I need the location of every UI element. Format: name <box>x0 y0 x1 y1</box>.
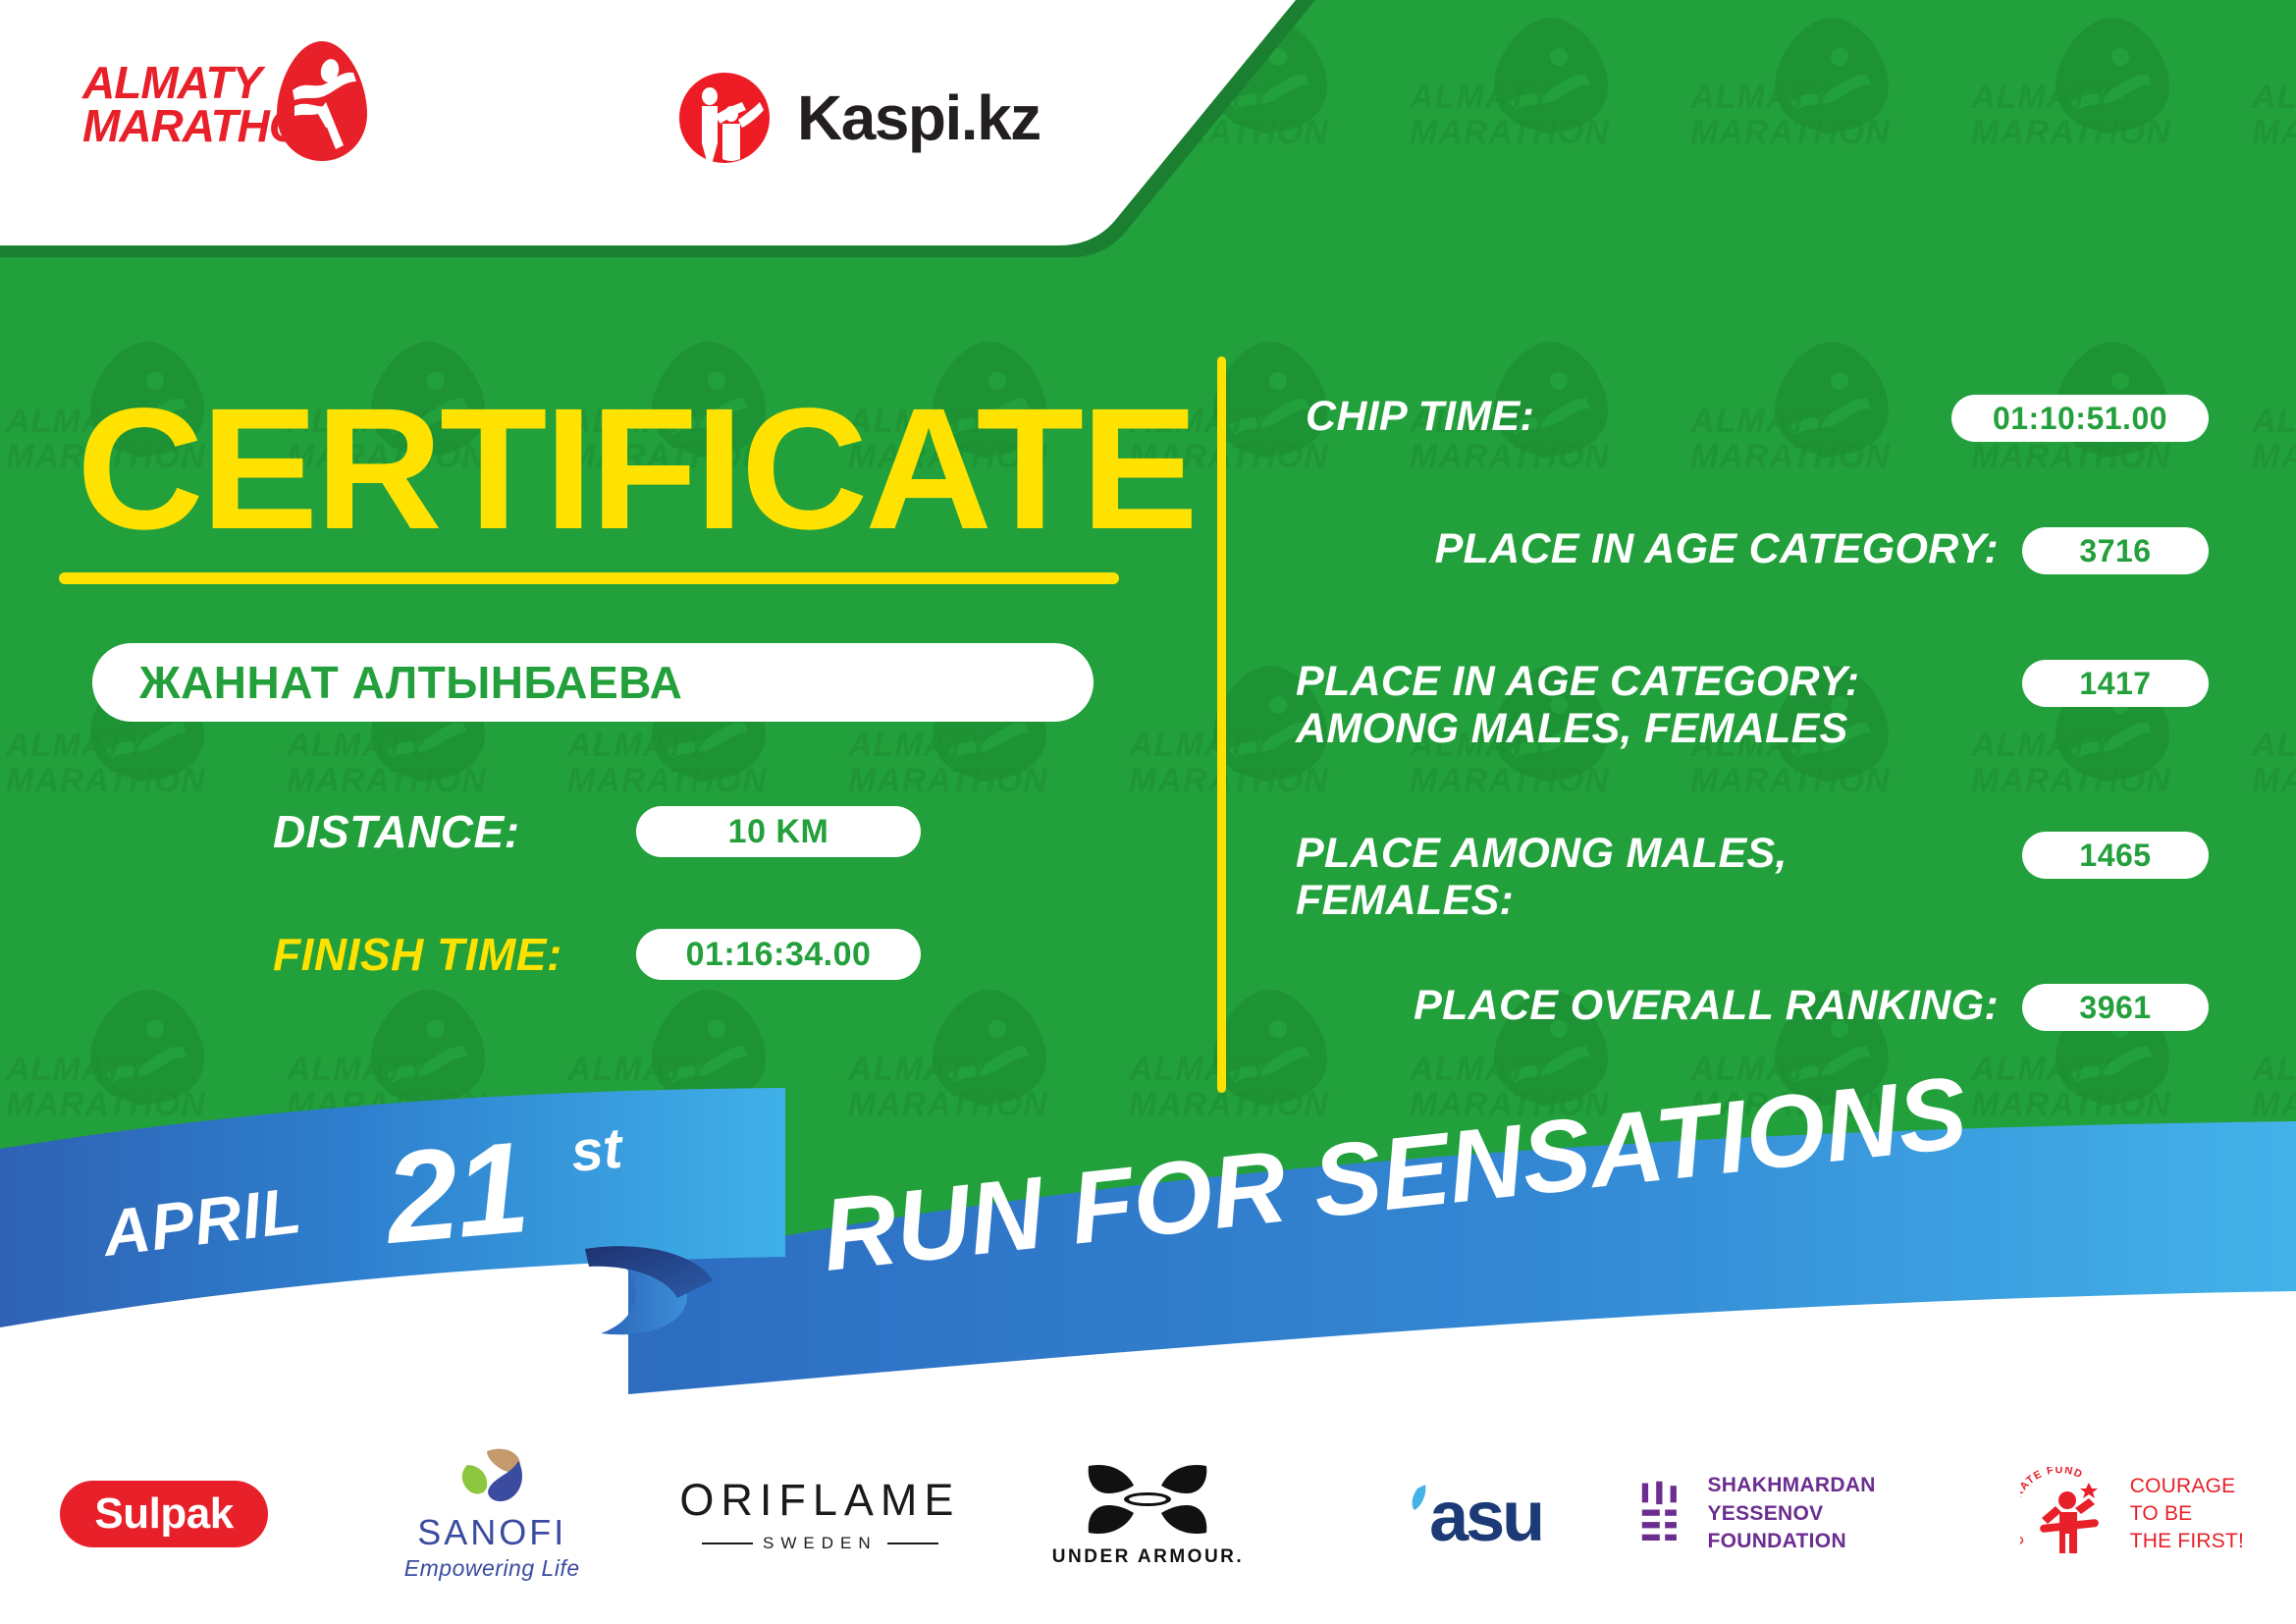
almaty-marathon-line1: ALMATY <box>82 61 289 104</box>
oriflame-subline: SWEDEN <box>702 1534 938 1553</box>
participant-name-field: ЖАННАТ АЛТЫНБАЕВА <box>92 643 1094 722</box>
sulpak-logo: Sulpak <box>60 1481 268 1547</box>
yessenov-mark-icon <box>1640 1478 1686 1550</box>
sponsor-yessenov-foundation: SHAKHMARDAN YESSENOV FOUNDATION <box>1640 1431 1968 1597</box>
result-value: 1417 <box>2079 666 2151 702</box>
kaspi-logo: Kaspi.kz <box>677 71 1041 165</box>
courage-line3: THE FIRST! <box>2130 1528 2244 1555</box>
result-label: PLACE OVERALL RANKING: <box>1296 982 2022 1029</box>
result-row-chip-time: CHIP TIME: 01:10:51.00 <box>1296 393 2209 442</box>
asu-logo: asu <box>1410 1481 1542 1547</box>
under-armour-logo: UNDER ARMOUR. <box>1052 1460 1244 1568</box>
sulpak-wordmark: Sulpak <box>94 1489 233 1539</box>
result-row-place-age-category: PLACE IN AGE CATEGORY: 3716 <box>1296 525 2209 574</box>
yessenov-line1: SHAKHMARDAN YESSENOV <box>1707 1472 1967 1528</box>
yessenov-wordmark: SHAKHMARDAN YESSENOV FOUNDATION <box>1707 1472 1967 1555</box>
distance-row: DISTANCE: 10 KM <box>273 805 921 858</box>
courage-mark-icon: CORPORATE FUND <box>2020 1467 2116 1561</box>
ribbon-day-suffix: st <box>568 1115 624 1185</box>
yessenov-line2: FOUNDATION <box>1707 1528 1967 1555</box>
oriflame-logo: ORIFLAME SWEDEN <box>679 1475 960 1553</box>
sanofi-tagline: Empowering Life <box>404 1555 580 1582</box>
result-label: PLACE AMONG MALES, FEMALES: <box>1296 830 2022 924</box>
ribbon-day: 21 <box>380 1112 532 1272</box>
finish-time-label: FINISH TIME: <box>273 928 636 981</box>
courage-line1: COURAGE <box>2130 1473 2244 1500</box>
oriflame-country: SWEDEN <box>763 1534 878 1553</box>
result-value: 3716 <box>2079 533 2151 569</box>
result-value-pill: 1417 <box>2022 660 2209 707</box>
almaty-marathon-wordmark: ALMATY MARATHON <box>82 61 289 147</box>
asu-droplet-icon <box>1408 1481 1429 1514</box>
page-title: CERTIFICATE <box>77 383 1196 556</box>
result-row-place-among-gender: PLACE AMONG MALES, FEMALES: 1465 <box>1296 830 2209 924</box>
asu-wordmark: asu <box>1429 1488 1542 1547</box>
result-label: PLACE IN AGE CATEGORY: <box>1296 525 2022 572</box>
under-armour-mark-icon <box>1081 1460 1214 1539</box>
result-row-place-overall: PLACE OVERALL RANKING: 3961 <box>1296 982 2209 1031</box>
result-label: PLACE IN AGE CATEGORY: AMONG MALES, FEMA… <box>1296 658 2022 752</box>
oriflame-wordmark: ORIFLAME <box>679 1475 960 1526</box>
result-value: 1465 <box>2079 838 2151 874</box>
result-label: CHIP TIME: <box>1296 393 1951 440</box>
almaty-marathon-runner-icon <box>275 37 369 165</box>
under-armour-wordmark: UNDER ARMOUR. <box>1052 1546 1244 1568</box>
yessenov-logo: SHAKHMARDAN YESSENOV FOUNDATION <box>1640 1472 1968 1555</box>
result-value: 01:10:51.00 <box>1993 401 2167 437</box>
sponsor-asu: asu <box>1312 1431 1640 1597</box>
sponsor-courage-to-be-first: CORPORATE FUND COURAGE TO BE THE FIRST! <box>1968 1431 2296 1597</box>
title-divider <box>59 572 1119 584</box>
finish-time-value-pill: 01:16:34.00 <box>636 929 921 980</box>
finish-time-value: 01:16:34.00 <box>686 936 872 974</box>
result-value-pill: 1465 <box>2022 832 2209 879</box>
courage-line2: TO BE <box>2130 1500 2244 1528</box>
result-value-pill: 3716 <box>2022 527 2209 574</box>
finish-time-row: FINISH TIME: 01:16:34.00 <box>273 928 921 981</box>
courage-logo: CORPORATE FUND COURAGE TO BE THE FIRST! <box>2020 1467 2244 1561</box>
oriflame-rule-right <box>887 1543 938 1544</box>
sponsor-oriflame: ORIFLAME SWEDEN <box>656 1431 984 1597</box>
sponsor-sulpak: Sulpak <box>0 1431 328 1597</box>
courage-wordmark: COURAGE TO BE THE FIRST! <box>2130 1473 2244 1554</box>
distance-label: DISTANCE: <box>273 805 636 858</box>
result-value: 3961 <box>2079 990 2151 1026</box>
distance-value-pill: 10 KM <box>636 806 921 857</box>
sponsor-strip: Sulpak SANOFI Empowering Life ORIFLAME S… <box>0 1404 2296 1624</box>
sanofi-mark-icon <box>454 1447 530 1508</box>
kaspi-mark-icon <box>677 71 772 165</box>
result-value-pill: 3961 <box>2022 984 2209 1031</box>
sanofi-wordmark: SANOFI <box>417 1512 566 1553</box>
result-row-place-age-category-gender: PLACE IN AGE CATEGORY: AMONG MALES, FEMA… <box>1296 658 2209 752</box>
result-value-pill: 01:10:51.00 <box>1951 395 2209 442</box>
certificate-page: ALMATY MARATHON ALMATY MARATHON <box>0 0 2296 1624</box>
almaty-marathon-line2: MARATHON <box>82 104 289 147</box>
oriflame-rule-left <box>702 1543 753 1544</box>
sponsor-under-armour: UNDER ARMOUR. <box>984 1431 1311 1597</box>
column-divider <box>1217 356 1226 1093</box>
distance-value: 10 KM <box>728 813 829 851</box>
kaspi-wordmark: Kaspi.kz <box>797 81 1041 154</box>
sponsor-sanofi: SANOFI Empowering Life <box>328 1431 656 1597</box>
participant-name-value: ЖАННАТ АЛТЫНБАЕВА <box>139 656 682 709</box>
almaty-marathon-logo: ALMATY MARATHON <box>82 37 377 165</box>
sanofi-logo: SANOFI Empowering Life <box>404 1447 580 1582</box>
